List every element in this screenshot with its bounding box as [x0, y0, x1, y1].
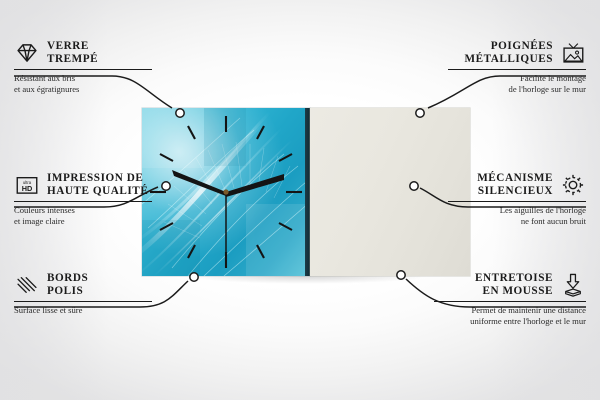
endpoint-entretoise: [397, 271, 405, 279]
endpoint-impression-hd: [162, 182, 170, 190]
feature-title: IMPRESSION DE HAUTE QUALITÉ: [47, 172, 148, 197]
wall-mount-frame-icon: [560, 40, 586, 66]
feature-subtitle: Résistant aux bris et aux égratignures: [14, 73, 152, 93]
feature-entretoise-en-mousse[interactable]: ENTRETOISE EN MOUSSE Permet de maintenir…: [434, 272, 586, 326]
title-rule: [434, 301, 586, 302]
ultra-hd-icon: ultra HD: [14, 172, 40, 198]
feature-title: ENTRETOISE EN MOUSSE: [475, 272, 553, 297]
title-rule: [448, 201, 586, 202]
feature-subtitle: Couleurs intenses et image claire: [14, 205, 152, 225]
infographic-canvas: VERRE TREMPÉ Résistant aux bris et aux é…: [0, 0, 600, 400]
title-rule: [14, 301, 152, 302]
feature-heading-row: BORDS POLIS: [14, 272, 152, 298]
feature-heading-row: VERRE TREMPÉ: [14, 40, 152, 66]
polished-edges-icon: [14, 272, 40, 298]
feature-subtitle: Permet de maintenir une distance uniform…: [434, 305, 586, 325]
feature-title: BORDS POLIS: [47, 272, 88, 297]
title-rule: [14, 201, 152, 202]
endpoint-verre-trempe: [176, 109, 184, 117]
feature-title: VERRE TREMPÉ: [47, 40, 98, 65]
feature-subtitle: Facilite le montage de l'horloge sur le …: [448, 73, 586, 93]
svg-text:HD: HD: [22, 184, 33, 193]
endpoint-bords-polis: [190, 273, 198, 281]
foam-spacer-arrow-icon: [560, 272, 586, 298]
gear-icon: [560, 172, 586, 198]
feature-heading-row: POIGNÉES MÉTALLIQUES: [448, 40, 586, 66]
feature-heading-row: MÉCANISME SILENCIEUX: [448, 172, 586, 198]
feature-subtitle: Surface lisse et sûre: [14, 305, 152, 315]
title-rule: [14, 69, 152, 70]
diamond-icon: [14, 40, 40, 66]
feature-bords-polis[interactable]: BORDS POLIS Surface lisse et sûre: [14, 272, 152, 316]
feature-mecanisme-silencieux[interactable]: MÉCANISME SILENCIEUX Les aiguilles de l'…: [448, 172, 586, 226]
endpoint-poignees: [416, 109, 424, 117]
feature-title: MÉCANISME SILENCIEUX: [477, 172, 553, 197]
feature-poignees-metalliques[interactable]: POIGNÉES MÉTALLIQUES Facilite le montage…: [448, 40, 586, 94]
title-rule: [448, 69, 586, 70]
feature-heading-row: ultra HD IMPRESSION DE HAUTE QUALITÉ: [14, 172, 152, 198]
feature-verre-trempe[interactable]: VERRE TREMPÉ Résistant aux bris et aux é…: [14, 40, 152, 94]
feature-subtitle: Les aiguilles de l'horloge ne font aucun…: [448, 205, 586, 225]
feature-impression-hd[interactable]: ultra HD IMPRESSION DE HAUTE QUALITÉ Cou…: [14, 172, 152, 226]
feature-title: POIGNÉES MÉTALLIQUES: [464, 40, 553, 65]
feature-heading-row: ENTRETOISE EN MOUSSE: [434, 272, 586, 298]
endpoint-mecanisme: [410, 182, 418, 190]
